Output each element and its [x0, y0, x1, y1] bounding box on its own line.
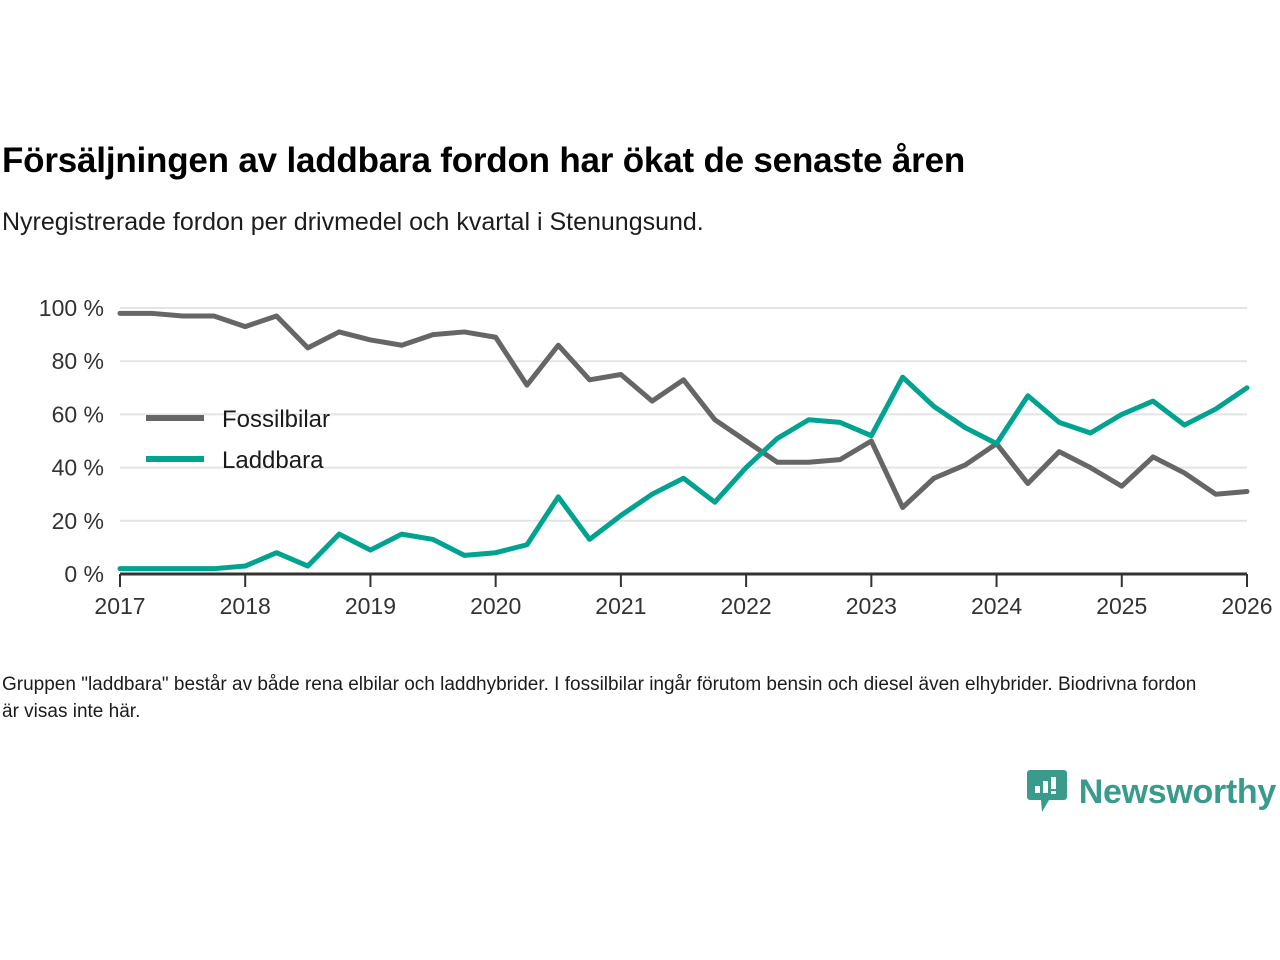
x-axis-tick-label: 2023 — [846, 593, 897, 619]
x-axis-tick-label: 2024 — [971, 593, 1022, 619]
x-axis-tick-label: 2017 — [94, 593, 145, 619]
y-axis-tick-label: 0 % — [64, 561, 104, 587]
chart-footnote: Gruppen "laddbara" består av både rena e… — [2, 672, 1217, 726]
newsworthy-logo[interactable]: Newsworthy — [1026, 768, 1276, 816]
bar-chart-speech-bubble-icon — [1026, 768, 1068, 816]
chart-canvas: 0 %20 %40 %60 %80 %100 % 201720182019202… — [0, 285, 1280, 630]
y-axis-tick-label: 80 % — [52, 348, 104, 374]
x-axis-tick-label: 2021 — [595, 593, 646, 619]
chart-subtitle: Nyregistrerade fordon per drivmedel och … — [0, 181, 1280, 237]
y-axis-tick-labels: 0 %20 %40 %60 %80 %100 % — [39, 295, 104, 587]
x-axis-tick-label: 2018 — [220, 593, 271, 619]
x-axis-tick-label: 2019 — [345, 593, 396, 619]
chart-header: Försäljningen av laddbara fordon har öka… — [0, 140, 1280, 237]
line-chart: 0 %20 %40 %60 %80 %100 % 201720182019202… — [0, 285, 1280, 630]
x-axis — [120, 574, 1247, 587]
legend-label: Laddbara — [222, 447, 324, 474]
x-axis-tick-label: 2025 — [1096, 593, 1147, 619]
legend-label: Fossilbilar — [222, 406, 330, 433]
data-series-layer — [120, 313, 1247, 568]
x-axis-tick-label: 2020 — [470, 593, 521, 619]
chart-legend: FossilbilarLaddbara — [146, 406, 330, 474]
chart-page: Försäljningen av laddbara fordon har öka… — [0, 0, 1280, 960]
x-axis-tick-label: 2026 — [1221, 593, 1272, 619]
y-axis-tick-label: 40 % — [52, 455, 104, 481]
page-title: Försäljningen av laddbara fordon har öka… — [0, 140, 1280, 181]
x-axis-tick-label: 2022 — [721, 593, 772, 619]
y-axis-tick-label: 20 % — [52, 508, 104, 534]
y-axis-tick-label: 60 % — [52, 401, 104, 427]
brand-name: Newsworthy — [1079, 775, 1276, 809]
y-axis-tick-label: 100 % — [39, 295, 104, 321]
x-axis-tick-labels: 2017201820192020202120222023202420252026 — [94, 593, 1272, 619]
